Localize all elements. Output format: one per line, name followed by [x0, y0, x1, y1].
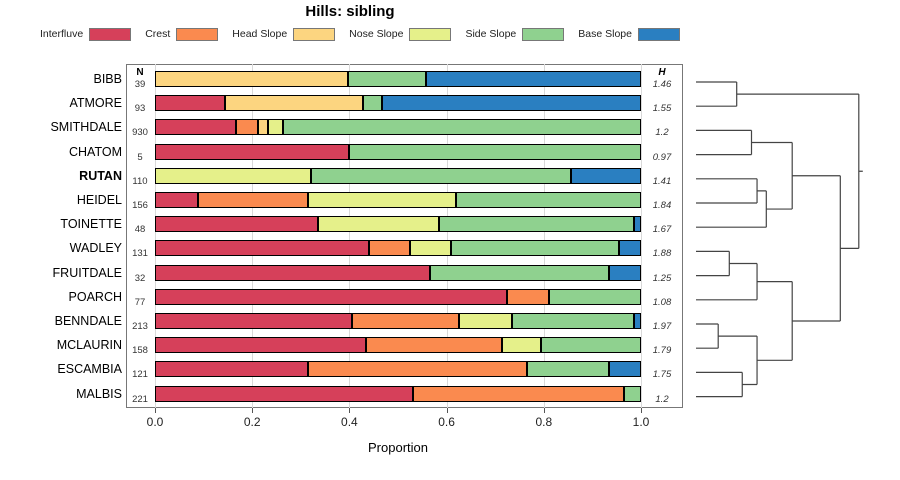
x-tick: [349, 408, 350, 413]
bar-segment: [507, 289, 548, 305]
bar-segment: [155, 289, 507, 305]
gridline: [252, 64, 253, 408]
legend-item: Nose Slope: [349, 28, 451, 41]
h-value: 1.75: [643, 369, 681, 380]
x-tick-label: 0.0: [135, 415, 175, 429]
bar-segment: [451, 240, 619, 256]
row-label-poarch: POARCH: [0, 291, 122, 303]
n-value: 930: [126, 127, 154, 138]
h-value: 1.79: [643, 345, 681, 356]
n-value: 221: [126, 394, 154, 405]
bar-segment: [155, 119, 236, 135]
bar-segment: [410, 240, 451, 256]
chart-legend: InterfluveCrestHead SlopeNose SlopeSide …: [40, 24, 680, 44]
bar-segment: [311, 168, 571, 184]
row-label-atmore: ATMORE: [0, 97, 122, 109]
bar-segment: [155, 313, 352, 329]
bar-segment: [155, 337, 366, 353]
legend-label: Interfluve: [40, 28, 83, 40]
bar-segment: [155, 265, 430, 281]
bar-segment: [459, 313, 512, 329]
h-column-header: H: [643, 67, 681, 78]
x-tick: [252, 408, 253, 413]
bar-segment: [155, 71, 348, 87]
legend-item: Head Slope: [232, 28, 335, 41]
bar-segment: [619, 240, 641, 256]
bar-segment: [155, 168, 311, 184]
bar-segment: [426, 71, 641, 87]
row-label-bibb: BIBB: [0, 73, 122, 85]
stacked-bar-row: [155, 71, 641, 87]
bar-segment: [512, 313, 634, 329]
bar-segment: [198, 192, 308, 208]
row-label-escambia: ESCAMBIA: [0, 363, 122, 375]
bar-segment: [502, 337, 541, 353]
n-value: 48: [126, 224, 154, 235]
legend-swatch: [293, 28, 335, 41]
stacked-bar-row: [155, 386, 641, 402]
h-value: 1.2: [643, 394, 681, 405]
stacked-bar-row: [155, 216, 641, 232]
row-label-malbis: MALBIS: [0, 388, 122, 400]
bar-segment: [258, 119, 268, 135]
x-axis: 0.00.20.40.60.81.0: [155, 408, 641, 410]
gridline: [447, 64, 448, 408]
h-value: 1.08: [643, 297, 681, 308]
x-tick: [544, 408, 545, 413]
bar-segment: [155, 216, 318, 232]
n-column: N39939305110156481313277213158121221: [126, 64, 154, 408]
n-value: 39: [126, 79, 154, 90]
x-tick: [155, 408, 156, 413]
bar-segment: [634, 216, 641, 232]
n-value: 158: [126, 345, 154, 356]
legend-item: Side Slope: [465, 28, 564, 41]
legend-label: Head Slope: [232, 28, 287, 40]
h-value: 1.41: [643, 176, 681, 187]
bar-segment: [318, 216, 440, 232]
row-label-benndale: BENNDALE: [0, 315, 122, 327]
h-value: 1.25: [643, 273, 681, 284]
row-label-wadley: WADLEY: [0, 242, 122, 254]
stacked-bar-row: [155, 168, 641, 184]
h-value: 1.2: [643, 127, 681, 138]
legend-label: Nose Slope: [349, 28, 403, 40]
legend-item: Base Slope: [578, 28, 680, 41]
bar-segment: [363, 95, 382, 111]
h-value: 1.84: [643, 200, 681, 211]
bar-segment: [609, 361, 641, 377]
stacked-bar-row: [155, 361, 641, 377]
bar-segment: [382, 95, 641, 111]
legend-label: Crest: [145, 28, 170, 40]
n-value: 32: [126, 273, 154, 284]
n-value: 5: [126, 152, 154, 163]
h-column: H1.461.551.20.971.411.841.671.881.251.08…: [643, 64, 683, 408]
legend-swatch: [522, 28, 564, 41]
stacked-bar-row: [155, 240, 641, 256]
chart-title: Hills: sibling: [0, 3, 700, 20]
stacked-bar-row: [155, 337, 641, 353]
n-value: 77: [126, 297, 154, 308]
h-value: 1.46: [643, 79, 681, 90]
row-label-smithdale: SMITHDALE: [0, 121, 122, 133]
row-label-fruitdale: FRUITDALE: [0, 267, 122, 279]
legend-swatch: [409, 28, 451, 41]
x-axis-label: Proportion: [155, 440, 641, 455]
legend-swatch: [176, 28, 218, 41]
bar-segment: [571, 168, 641, 184]
dendrogram-tree: [696, 82, 863, 397]
legend-swatch: [89, 28, 131, 41]
bar-segment: [430, 265, 610, 281]
bar-segment: [155, 386, 413, 402]
stacked-bar-row: [155, 119, 641, 135]
bar-segment: [366, 337, 502, 353]
bar-segment: [527, 361, 610, 377]
x-tick-label: 0.6: [427, 415, 467, 429]
h-value: 1.88: [643, 248, 681, 259]
row-label-mclaurin: MCLAURIN: [0, 339, 122, 351]
stacked-bar-row: [155, 95, 641, 111]
bar-segment: [308, 192, 456, 208]
bar-segment: [283, 119, 641, 135]
h-value: 1.97: [643, 321, 681, 332]
legend-swatch: [638, 28, 680, 41]
stacked-bar-row: [155, 265, 641, 281]
bar-segment: [349, 144, 641, 160]
bar-segment: [624, 386, 641, 402]
legend-item: Interfluve: [40, 28, 131, 41]
x-tick: [641, 408, 642, 413]
x-tick-label: 0.4: [329, 415, 369, 429]
bar-segment: [609, 265, 641, 281]
bar-segment: [155, 192, 198, 208]
chart-root: Hills: sibling InterfluveCrestHead Slope…: [0, 0, 900, 480]
legend-label: Base Slope: [578, 28, 632, 40]
bar-segment: [413, 386, 624, 402]
bar-segment: [549, 289, 641, 305]
h-value: 1.67: [643, 224, 681, 235]
gridline: [349, 64, 350, 408]
bar-segment: [352, 313, 459, 329]
bar-segment: [634, 313, 641, 329]
bar-segment: [268, 119, 283, 135]
bar-segment: [541, 337, 641, 353]
gridline: [641, 64, 642, 408]
bar-segment: [369, 240, 410, 256]
bar-segment: [155, 240, 369, 256]
n-column-header: N: [126, 67, 154, 78]
plot-area: [155, 64, 641, 408]
row-label-chatom: CHATOM: [0, 146, 122, 158]
legend-label: Side Slope: [465, 28, 516, 40]
n-value: 110: [126, 176, 154, 187]
bar-segment: [155, 144, 349, 160]
x-tick-label: 0.2: [232, 415, 272, 429]
dendrogram: [690, 60, 895, 412]
row-label-column: BIBBATMORESMITHDALECHATOMRUTANHEIDELTOIN…: [0, 64, 122, 408]
n-value: 213: [126, 321, 154, 332]
x-tick-label: 0.8: [524, 415, 564, 429]
bar-segment: [308, 361, 527, 377]
bar-segment: [225, 95, 363, 111]
row-label-toinette: TOINETTE: [0, 218, 122, 230]
stacked-bar-row: [155, 144, 641, 160]
n-value: 131: [126, 248, 154, 259]
legend-item: Crest: [145, 28, 218, 41]
bar-segment: [236, 119, 258, 135]
stacked-bar-row: [155, 192, 641, 208]
stacked-bar-row: [155, 313, 641, 329]
bar-segment: [439, 216, 633, 232]
n-value: 93: [126, 103, 154, 114]
row-label-heidel: HEIDEL: [0, 194, 122, 206]
x-tick: [447, 408, 448, 413]
bar-segment: [155, 361, 308, 377]
n-value: 121: [126, 369, 154, 380]
bar-segment: [348, 71, 426, 87]
x-tick-label: 1.0: [621, 415, 661, 429]
stacked-bar-row: [155, 289, 641, 305]
bar-segment: [456, 192, 641, 208]
h-value: 0.97: [643, 152, 681, 163]
gridline: [155, 64, 156, 408]
bar-segment: [155, 95, 225, 111]
row-label-rutan: RUTAN: [0, 170, 122, 182]
h-value: 1.55: [643, 103, 681, 114]
gridline: [544, 64, 545, 408]
n-value: 156: [126, 200, 154, 211]
